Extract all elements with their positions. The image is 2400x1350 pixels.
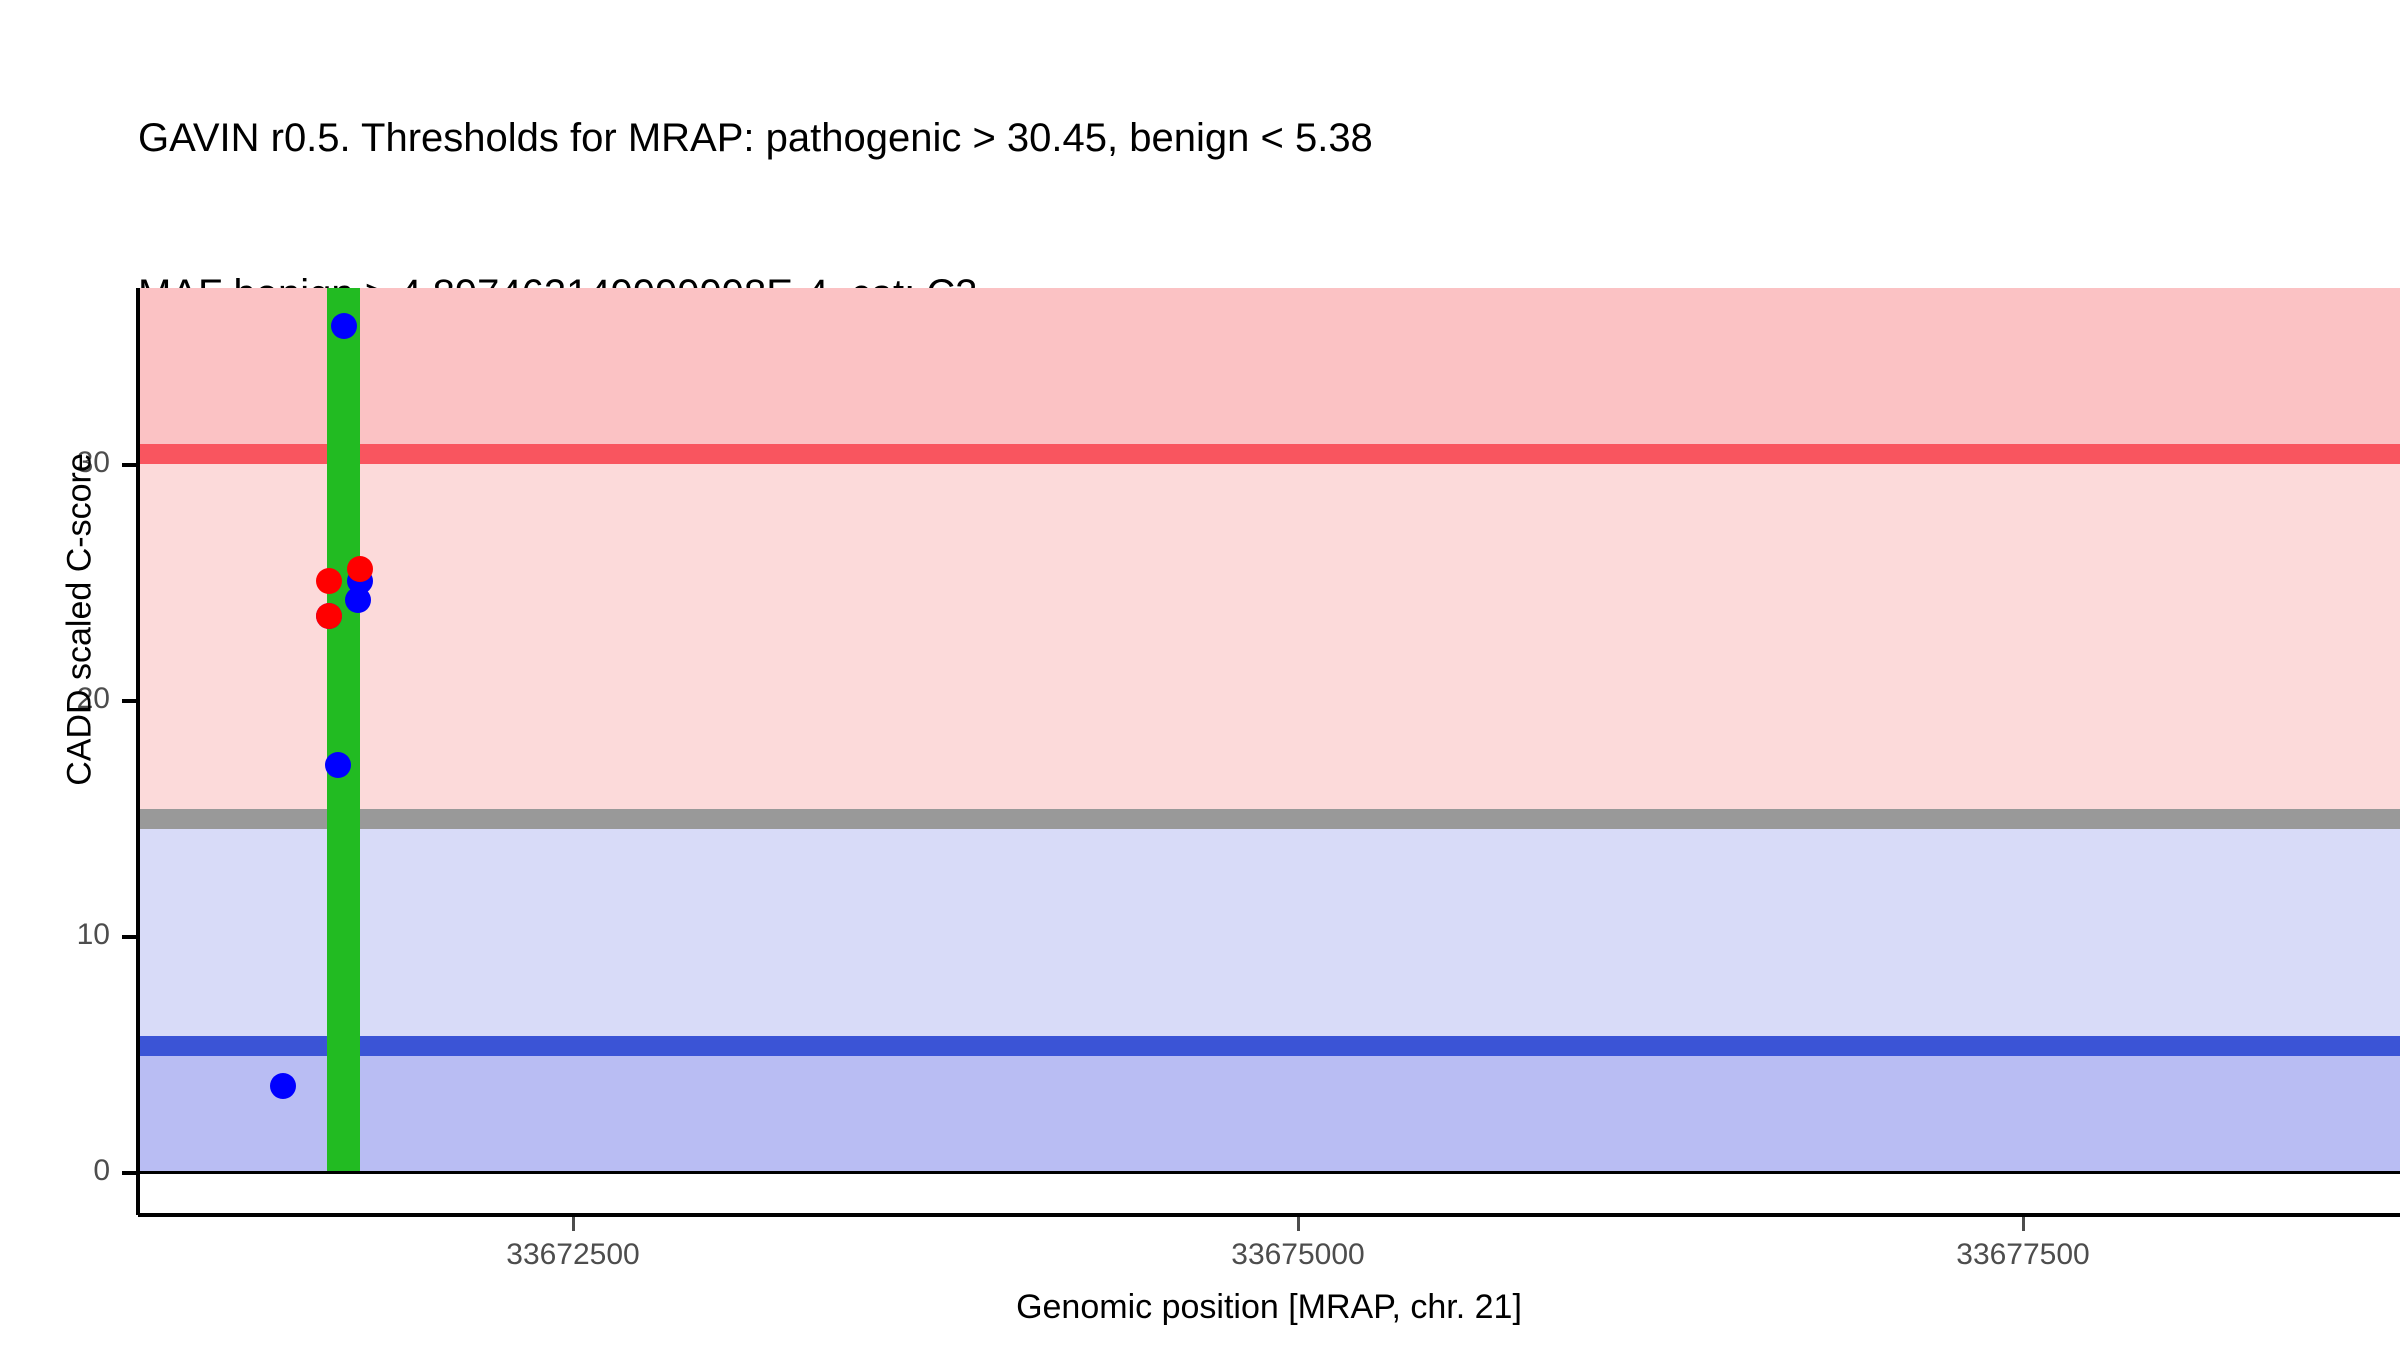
y-zero-baseline: [138, 1171, 2400, 1174]
y-tick-20: [122, 699, 136, 703]
y-axis-title: CADD scaled C-score: [61, 170, 100, 1070]
pathogenic-threshold-line: [138, 444, 2400, 464]
benign-threshold-line: [138, 1036, 2400, 1056]
y-tick-label-0: 0: [30, 1154, 110, 1188]
variant-dot-pathogenic: [316, 568, 342, 594]
plot-area: [138, 288, 2400, 1173]
figure-root: GAVIN r0.5. Thresholds for MRAP: pathoge…: [0, 0, 2400, 1350]
x-tick-label-33672500: 33672500: [506, 1238, 639, 1272]
x-tick-label-33677500: 33677500: [1956, 1238, 2089, 1272]
benign-lower-band: [138, 1046, 2400, 1173]
variant-dot-gnomad: [345, 587, 371, 613]
pathogenic-lower-band: [138, 454, 2400, 819]
fallback-threshold-line: [138, 809, 2400, 829]
x-tick-33672500: [572, 1217, 575, 1231]
variant-dot-pathogenic: [316, 603, 342, 629]
exon-left: [327, 288, 360, 1173]
y-tick-0: [122, 1171, 136, 1175]
benign-upper-band: [138, 819, 2400, 1046]
title-line-1: GAVIN r0.5. Thresholds for MRAP: pathoge…: [138, 112, 2338, 164]
y-tick-10: [122, 935, 136, 939]
x-tick-33677500: [2022, 1217, 2025, 1231]
variant-dot-gnomad: [331, 313, 357, 339]
variant-dot-pathogenic: [347, 556, 373, 582]
pathogenic-upper-band: [138, 288, 2400, 454]
y-axis-line: [136, 288, 140, 1215]
x-axis-title: Genomic position [MRAP, chr. 21]: [138, 1288, 2400, 1327]
plot-panel: [138, 288, 2400, 1213]
x-axis-line: [138, 1213, 2400, 1217]
y-tick-30: [122, 463, 136, 467]
x-tick-33675000: [1297, 1217, 1300, 1231]
x-tick-label-33675000: 33675000: [1231, 1238, 1364, 1272]
variant-dot-gnomad: [270, 1073, 296, 1099]
variant-dot-gnomad: [325, 752, 351, 778]
